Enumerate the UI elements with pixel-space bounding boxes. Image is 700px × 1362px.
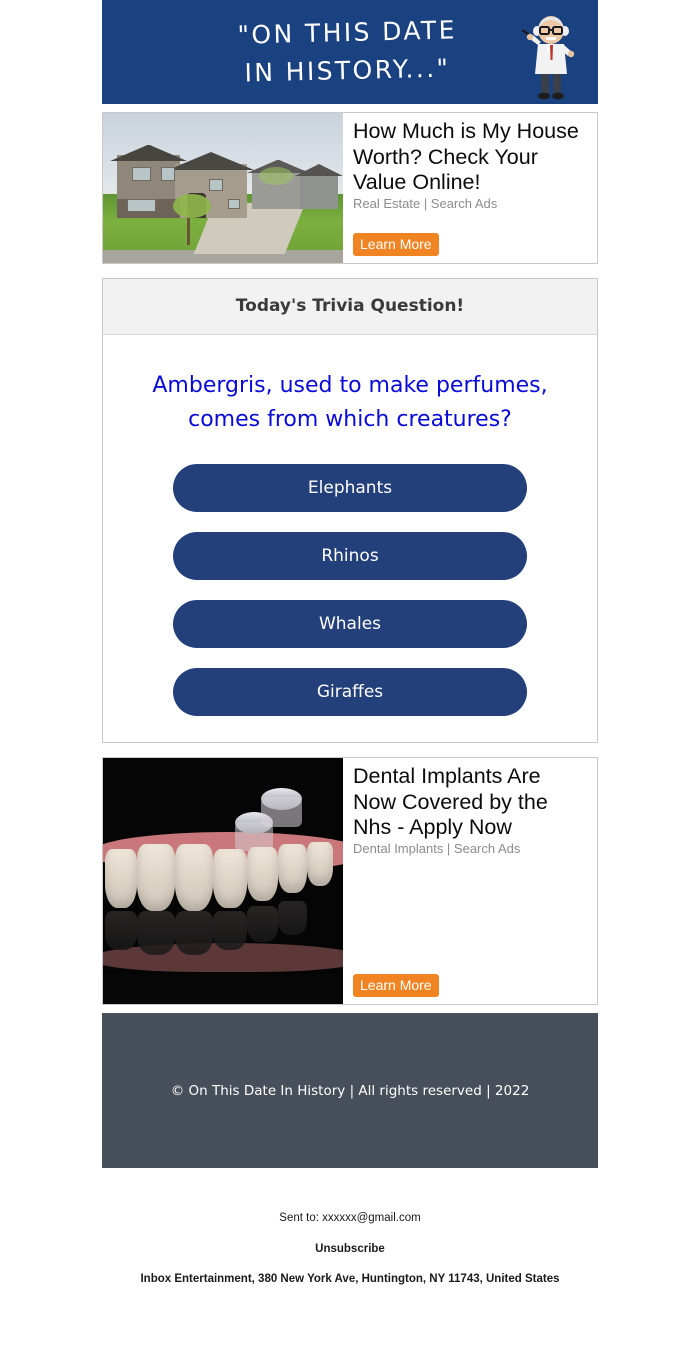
footer-copyright: © On This Date In History | All rights r… [171, 1083, 530, 1099]
dental-ad[interactable]: Dental Implants Are Now Covered by the N… [102, 757, 598, 1005]
trivia-body: Ambergris, used to make perfumes, comes … [103, 335, 597, 742]
answer-option-2[interactable]: Rhinos [173, 532, 527, 580]
answer-option-4[interactable]: Giraffes [173, 668, 527, 716]
footer-bar: © On This Date In History | All rights r… [102, 1013, 598, 1168]
banner-title: "On This Date In History..." [237, 0, 460, 104]
trivia-question: Ambergris, used to make perfumes, comes … [103, 369, 597, 437]
banner-title-line2: In History..." [238, 49, 458, 92]
trivia-answers: Elephants Rhinos Whales Giraffes [103, 464, 597, 716]
professor-character-icon [520, 8, 582, 100]
answer-option-1[interactable]: Elephants [173, 464, 527, 512]
mailing-address: Inbox Entertainment, 380 New York Ave, H… [0, 1273, 700, 1285]
dental-ad-image[interactable] [103, 758, 343, 1004]
spacer [0, 1005, 700, 1013]
sent-to-line: Sent to: xxxxxx@gmail.com [0, 1211, 700, 1225]
answer-option-3[interactable]: Whales [173, 600, 527, 648]
dental-ad-body: Dental Implants Are Now Covered by the N… [343, 758, 597, 1004]
banner-title-line1: "On This Date [238, 15, 458, 49]
trivia-card: Today's Trivia Question! Ambergris, used… [102, 278, 598, 743]
fineprint: Sent to: xxxxxx@gmail.com Unsubscribe In… [0, 1168, 700, 1285]
real-estate-ad-image[interactable] [103, 113, 343, 263]
dental-ad-title: Dental Implants Are Now Covered by the N… [353, 764, 589, 841]
real-estate-ad[interactable]: How Much is My House Worth? Check Your V… [102, 112, 598, 264]
email-page: "On This Date In History..." [0, 0, 700, 1285]
real-estate-ad-title: How Much is My House Worth? Check Your V… [353, 119, 589, 196]
real-estate-ad-source: Real Estate | Search Ads [353, 196, 589, 212]
real-estate-ad-body: How Much is My House Worth? Check Your V… [343, 113, 597, 263]
spacer [0, 104, 700, 112]
dental-ad-source: Dental Implants | Search Ads [353, 841, 589, 857]
trivia-header-label: Today's Trivia Question! [236, 296, 464, 316]
unsubscribe-link[interactable]: Unsubscribe [0, 1243, 700, 1255]
spacer [0, 264, 700, 278]
spacer [0, 743, 700, 757]
trivia-header: Today's Trivia Question! [103, 279, 597, 335]
header-banner: "On This Date In History..." [102, 0, 598, 104]
dental-learn-more-button[interactable]: Learn More [353, 974, 439, 997]
real-estate-learn-more-button[interactable]: Learn More [353, 233, 439, 256]
